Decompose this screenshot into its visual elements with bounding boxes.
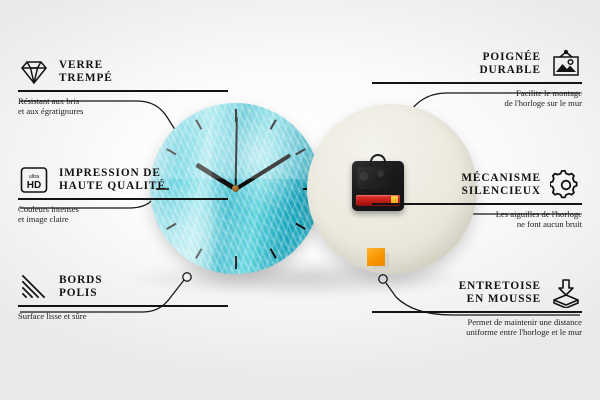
feature-desc-line1: Permet de maintenir une distance [372,317,582,328]
divider [372,203,582,205]
divider [372,311,582,313]
feature-header: ENTRETOISE EN MOUSSE [372,278,582,308]
feature-bords-polis: BORDS POLIS Surface lisse et sûre [18,272,228,321]
feature-desc-line1: Surface lisse et sûre [18,311,228,322]
feature-header: VERRE TREMPÉ [18,57,228,87]
feature-entretoise-en-mousse: ENTRETOISE EN MOUSSE Permet de maintenir… [372,278,582,338]
feature-title-line2: SILENCIEUX [461,185,541,199]
feature-title-line2: TREMPÉ [59,72,113,86]
diamond-icon [18,57,50,87]
feature-title-line1: ENTRETOISE [459,280,541,294]
feature-title-line1: IMPRESSION DE [59,167,166,181]
feature-title-line2: HAUTE QUALITÉ [59,180,166,194]
feature-mecanisme-silencieux: MÉCANISME SILENCIEUX Les aiguilles de l'… [372,170,582,230]
feature-header: POIGNÉE DURABLE [372,49,582,79]
feature-desc-line1: Les aiguilles de l'horloge [372,209,582,220]
feature-title-line1: BORDS [59,274,102,288]
feature-verre-trempe: VERRE TREMPÉ Résistant aux bris et aux é… [18,57,228,117]
feature-title-line2: POLIS [59,287,102,301]
feature-header: BORDS POLIS [18,272,228,302]
feature-desc-line2: uniforme entre l'horloge et le mur [372,327,582,338]
hanger-loop-icon [370,154,386,166]
feature-desc-line1: Facilite le montage [372,88,582,99]
divider [18,90,228,92]
feature-title-line1: POIGNÉE [479,51,541,65]
divider [18,305,228,307]
feature-title-line1: VERRE [59,59,113,73]
infographic-stage: VERRE TREMPÉ Résistant aux bris et aux é… [0,0,600,400]
clock-center-cap [232,185,239,192]
foam-spacer-arrow-icon [550,278,582,308]
feature-desc-line1: Résistant aux bris [18,96,228,107]
feature-title-line2: EN MOUSSE [459,293,541,307]
feature-impression-haute-qualite: ultra HD IMPRESSION DE HAUTE QUALITÉ Cou… [18,165,228,225]
clock-second-hand [235,116,238,188]
feature-title-line1: MÉCANISME [461,172,541,186]
svg-text:HD: HD [27,180,41,191]
feature-desc-line2: de l'horloge sur le mur [372,98,582,109]
picture-frame-hanger-icon [550,49,582,79]
feature-desc-line1: Couleurs intenses [18,204,228,215]
feature-header: ultra HD IMPRESSION DE HAUTE QUALITÉ [18,165,228,195]
feature-desc-line2: et aux égratignures [18,106,228,117]
ultra-hd-icon: ultra HD [18,165,50,195]
feature-poignee-durable: POIGNÉE DURABLE Facilite le montage de l… [372,49,582,109]
feature-desc-line2: et image claire [18,214,228,225]
divider [372,82,582,84]
polished-edges-icon [18,272,50,302]
gear-icon [550,170,582,200]
feature-title-line2: DURABLE [479,64,541,78]
feature-desc-line2: ne font aucun bruit [372,219,582,230]
divider [18,198,228,200]
foam-spacer [367,248,385,266]
feature-header: MÉCANISME SILENCIEUX [372,170,582,200]
clock-minute-hand [234,153,290,190]
